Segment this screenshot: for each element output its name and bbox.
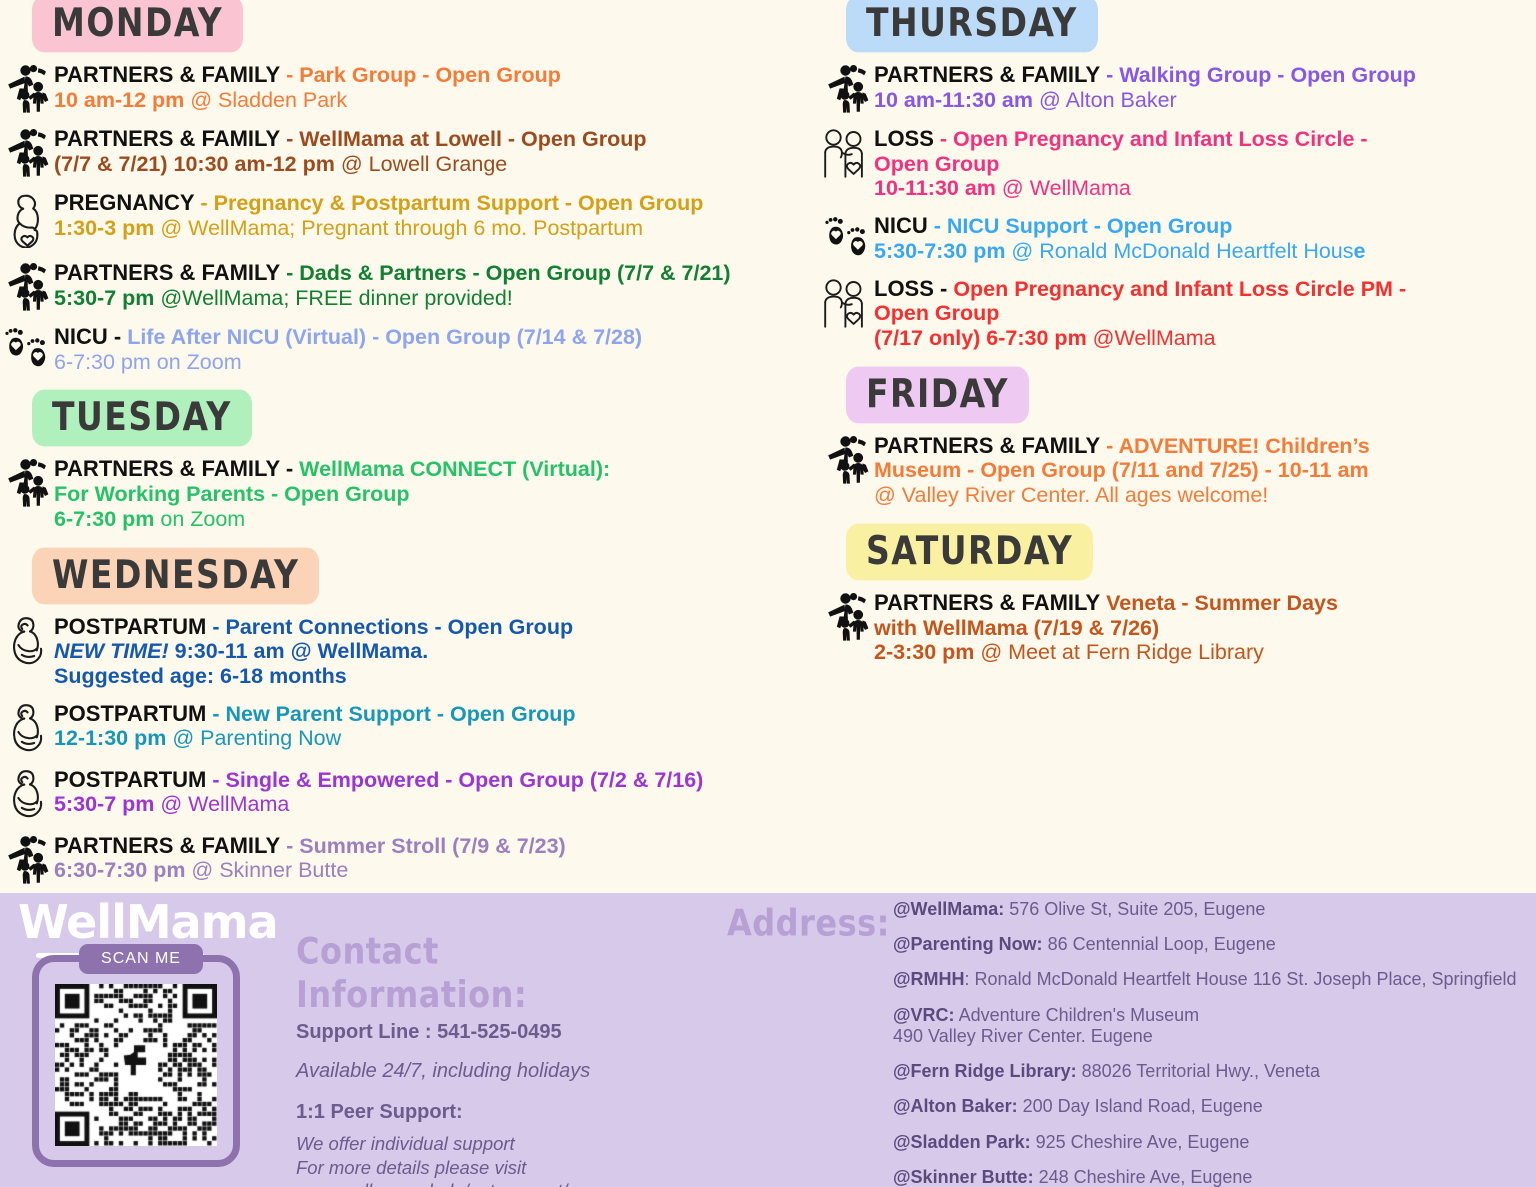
address-row: @Fern Ridge Library: 88026 Territorial H… [893,1061,1523,1082]
event-line: NEW TIME! 9:30-11 am @ WellMama. [54,639,820,664]
event-line: Museum - Open Group (7/11 and 7/25) - 10… [874,458,1536,483]
day-section-thursday: THURSDAY PARTNERS & FAMILY - Walking Gro… [820,0,1536,351]
event-text: POSTPARTUM - New Parent Support - Open G… [54,701,820,751]
event-text: PARTNERS & FAMILY - Park Group - Open Gr… [54,62,820,112]
address-label: @RMHH [893,969,965,989]
event-text: LOSS - Open Pregnancy and Infant Loss Ci… [874,276,1536,351]
event-tme: (7/7 & 7/21) 10:30 am-12 pm [54,152,341,176]
day-section-saturday: SATURDAY PARTNERS & FAMILY Veneta - Summ… [820,528,1536,665]
event-line: 10-11:30 am @ WellMama [874,176,1536,201]
event-loc: @ Parenting Now [172,726,341,750]
contact-information-title: Contact Information: [296,929,656,1016]
event-category: NICU - [54,324,121,349]
event-line: POSTPARTUM - Parent Connections - Open G… [54,614,820,640]
event-ttl: - Pregnancy & Postpartum Support - Open … [195,191,704,215]
peer-support-title: 1:1 Peer Support: [296,1101,656,1124]
address-row: @Sladden Park: 925 Cheshire Ave, Eugene [893,1132,1523,1153]
event-category: LOSS [874,126,934,151]
event-line: NICU - Life After NICU (Virtual) - Open … [54,324,820,350]
event-text: PARTNERS & FAMILY - Dads & Partners - Op… [54,260,820,310]
footprints-icon [0,324,54,372]
event-line: 10 am-12 pm @ Sladden Park [54,88,820,113]
event-loc: @ Alton Baker [1039,88,1177,112]
peer-support-line-1: For more details please visit [296,1156,656,1180]
event-row[interactable]: PARTNERS & FAMILY - ADVENTURE! Children’… [820,433,1536,508]
event-ttl: - Summer Stroll (7/9 & 7/23) [280,834,566,858]
address-label: @Fern Ridge Library: [893,1061,1077,1081]
postpartum-icon [0,767,54,821]
event-line: 12-1:30 pm @ Parenting Now [54,726,820,751]
calendar-area: MONDAY PARTNERS & FAMILY - Park Group - … [0,0,1536,893]
event-text: PARTNERS & FAMILY - WellMama at Lowell -… [54,126,820,176]
peer-support-line-0: We offer individual support [296,1132,656,1156]
family-icon [0,260,54,312]
event-category: PARTNERS & FAMILY [874,62,1100,87]
event-tme: 10 am-11:30 am [874,88,1039,112]
event-text: PARTNERS & FAMILY Veneta - Summer Dayswi… [874,590,1536,665]
event-loc: @WellMama; FREE dinner provided! [160,286,512,310]
event-loc: @WellMama [1093,326,1216,350]
event-line: PARTNERS & FAMILY - Walking Group - Open… [874,62,1536,88]
event-line: 5:30-7 pm @WellMama; FREE dinner provide… [54,286,820,311]
event-tme: 5:30-7:30 pm [874,239,1011,263]
event-row[interactable]: NICU - Life After NICU (Virtual) - Open … [0,324,820,374]
event-line: POSTPARTUM - Single & Empowered - Open G… [54,767,820,793]
event-text: PARTNERS & FAMILY - WellMama CONNECT (Vi… [54,456,820,531]
event-ttl: Open Group [874,152,999,176]
event-line: LOSS - Open Pregnancy and Infant Loss Ci… [874,126,1536,152]
event-ttl: with WellMama (7/19 & 7/26) [874,616,1159,640]
day-pill-monday: MONDAY [32,0,243,52]
peer-support-url[interactable]: www.wellmama.help/get-support/ [296,1179,656,1187]
event-line: Open Group [874,152,1536,177]
day-section-tuesday: TUESDAY PARTNERS & FAMILY - WellMama CON… [0,394,820,531]
event-ttl: - New Parent Support - Open Group [206,702,575,726]
event-line: PARTNERS & FAMILY - Summer Stroll (7/9 &… [54,833,820,859]
event-text: NICU - NICU Support - Open Group5:30-7:3… [874,213,1536,263]
address-value: 86 Centennial Loop, Eugene [1043,934,1276,954]
event-line: PARTNERS & FAMILY - Dads & Partners - Op… [54,260,820,286]
address-label: @Alton Baker: [893,1096,1018,1116]
event-ttl: For Working Parents - Open Group [54,482,410,506]
brand-name: WellMama [18,899,288,945]
family-icon [0,833,54,885]
address-value: 925 Cheshire Ave, Eugene [1031,1132,1250,1152]
event-line: (7/17 only) 6-7:30 pm @WellMama [874,326,1536,351]
address-row: @WellMama: 576 Olive St, Suite 205, Euge… [893,899,1523,920]
event-tme: 5:30-7 pm [54,792,160,816]
address-label: @Sladden Park: [893,1132,1031,1152]
family-icon [820,590,874,642]
event-line: POSTPARTUM - New Parent Support - Open G… [54,701,820,727]
event-row[interactable]: PARTNERS & FAMILY Veneta - Summer Dayswi… [820,590,1536,665]
calendar-column-left: MONDAY PARTNERS & FAMILY - Park Group - … [0,0,820,905]
event-line: @ Valley River Center. All ages welcome! [874,483,1536,508]
event-tme: 6:30-7:30 pm [54,858,191,882]
event-row[interactable]: PARTNERS & FAMILY - WellMama at Lowell -… [0,126,820,178]
event-row[interactable]: NICU - NICU Support - Open Group5:30-7:3… [820,213,1536,263]
support-line: Support Line : 541-525-0495 [296,1021,656,1044]
event-row[interactable]: POSTPARTUM - Parent Connections - Open G… [0,614,820,689]
address-label: @VRC: [893,1005,955,1025]
event-line: 5:30-7 pm @ WellMama [54,792,820,817]
day-pill-thursday: THURSDAY [846,0,1098,52]
event-row[interactable]: POSTPARTUM - Single & Empowered - Open G… [0,767,820,821]
address-row: @RMHH: Ronald McDonald Heartfelt House 1… [893,969,1523,990]
day-pill-wednesday: WEDNESDAY [32,547,319,604]
event-loc: 6-7:30 pm on Zoom [54,350,242,374]
event-tme: e [1354,239,1366,263]
event-loc: @ WellMama [1002,176,1131,200]
event-line: 5:30-7:30 pm @ Ronald McDonald Heartfelt… [874,239,1536,264]
event-category: PARTNERS & FAMILY [54,260,280,285]
day-section-friday: FRIDAY PARTNERS & FAMILY - ADVENTURE! Ch… [820,371,1536,508]
event-tme: (7/17 only) 6-7:30 pm [874,326,1093,350]
family-icon [0,62,54,114]
event-row[interactable]: PREGNANCY - Pregnancy & Postpartum Suppo… [0,190,820,248]
event-text: NICU - Life After NICU (Virtual) - Open … [54,324,820,374]
event-row[interactable]: PARTNERS & FAMILY - Summer Stroll (7/9 &… [0,833,820,885]
day-section-monday: MONDAY PARTNERS & FAMILY - Park Group - … [0,0,820,374]
event-line: PARTNERS & FAMILY - ADVENTURE! Children’… [874,433,1536,459]
event-loc: @ Meet at Fern Ridge Library [980,640,1264,664]
address-value: 88026 Territorial Hwy., Veneta [1077,1061,1320,1081]
event-category: PARTNERS & FAMILY [54,62,280,87]
event-loc: @ WellMama; Pregnant through 6 mo. Postp… [160,216,643,240]
address-value: 248 Cheshire Ave, Eugene [1034,1167,1253,1187]
scan-me-badge: SCAN ME [79,944,203,974]
event-line: with WellMama (7/19 & 7/26) [874,616,1536,641]
event-line: 2-3:30 pm @ Meet at Fern Ridge Library [874,640,1536,665]
event-ttl: Open Group [874,301,999,325]
event-loc: on Zoom [160,507,245,531]
event-category: PARTNERS & FAMILY [874,433,1100,458]
event-ttl: Museum - Open Group (7/11 and 7/25) - 10… [874,458,1369,482]
event-row[interactable]: LOSS - Open Pregnancy and Infant Loss Ci… [820,276,1536,351]
day-pill-tuesday: TUESDAY [32,390,252,447]
event-category: PREGNANCY [54,190,195,215]
event-category: PARTNERS & FAMILY [54,126,280,151]
event-loc: @ Sladden Park [190,88,347,112]
event-ttl: - Single & Empowered - Open Group (7/2 &… [206,768,703,792]
event-category: PARTNERS & FAMILY [54,833,280,858]
event-category: NICU [874,213,928,238]
event-loc: @ Valley River Center. All ages welcome! [874,483,1268,507]
event-ital: NEW TIME! [54,639,169,663]
event-category: POSTPARTUM [54,767,206,792]
address-title: Address: [727,901,890,945]
event-line: 6-7:30 pm on Zoom [54,507,820,532]
event-line: NICU - NICU Support - Open Group [874,213,1536,239]
event-ttl: - Open Pregnancy and Infant Loss Circle … [934,127,1368,151]
event-text: LOSS - Open Pregnancy and Infant Loss Ci… [874,126,1536,201]
event-text: POSTPARTUM - Single & Empowered - Open G… [54,767,820,817]
event-line: PARTNERS & FAMILY - Park Group - Open Gr… [54,62,820,88]
postpartum-icon [0,701,54,755]
event-text: PARTNERS & FAMILY - Walking Group - Open… [874,62,1536,112]
event-tme: 5:30-7 pm [54,286,160,310]
event-tme: 2-3:30 pm [874,640,980,664]
event-loc: @ Ronald McDonald Heartfelt Hous [1011,239,1353,263]
address-value: 576 Olive St, Suite 205, Eugene [1004,899,1265,919]
event-category: POSTPARTUM [54,614,206,639]
day-section-wednesday: WEDNESDAY POSTPARTUM - Parent Connection… [0,552,820,885]
event-loc: @ WellMama [160,792,289,816]
event-line: For Working Parents - Open Group [54,482,820,507]
event-tme: 9:30-11 am @ WellMama. [169,639,429,663]
event-row[interactable]: PARTNERS & FAMILY - Dads & Partners - Op… [0,260,820,312]
event-line: PREGNANCY - Pregnancy & Postpartum Suppo… [54,190,820,216]
address-list: @WellMama: 576 Olive St, Suite 205, Euge… [893,899,1523,1187]
address-label: @Parenting Now: [893,934,1043,954]
event-ttl: Open Pregnancy and Infant Loss Circle PM… [947,277,1406,301]
event-line: 10 am-11:30 am @ Alton Baker [874,88,1536,113]
event-ttl: - Parent Connections - Open Group [206,615,573,639]
address-label: @Skinner Butte: [893,1167,1034,1187]
event-ttl: - Walking Group - Open Group [1100,63,1416,87]
event-ttl: - Dads & Partners - Open Group (7/7 & 7/… [280,261,730,285]
address-value: 200 Day Island Road, Eugene [1018,1096,1263,1116]
event-tme: 6-7:30 pm [54,507,160,531]
address-row: @Alton Baker: 200 Day Island Road, Eugen… [893,1096,1523,1117]
event-ttl: - NICU Support - Open Group [928,214,1233,238]
event-tme: 12-1:30 pm [54,726,172,750]
event-line: Suggested age: 6-18 months [54,664,820,689]
event-loc: @ Lowell Grange [341,152,507,176]
contact-information-block: Contact Information: Support Line : 541-… [296,929,656,1187]
family-icon [0,456,54,508]
event-tme: 10 am-12 pm [54,88,190,112]
event-text: PREGNANCY - Pregnancy & Postpartum Suppo… [54,190,820,240]
event-category: PARTNERS & FAMILY [874,590,1100,615]
event-line: 1:30-3 pm @ WellMama; Pregnant through 6… [54,216,820,241]
event-line: LOSS - Open Pregnancy and Infant Loss Ci… [874,276,1536,302]
family-icon [820,62,874,114]
qr-code-image [55,984,217,1146]
qr-code-card[interactable]: SCAN ME [32,955,240,1167]
event-category: LOSS - [874,276,947,301]
event-tme: 10-11:30 am [874,176,1002,200]
pregnancy-icon [0,190,54,248]
event-row[interactable]: PARTNERS & FAMILY - WellMama CONNECT (Vi… [0,456,820,531]
event-ttl: - Park Group - Open Group [280,63,561,87]
event-line: Open Group [874,301,1536,326]
event-line: 6-7:30 pm on Zoom [54,350,820,375]
calendar-column-right: THURSDAY PARTNERS & FAMILY - Walking Gro… [820,0,1536,685]
event-ttl: Veneta - Summer Days [1100,591,1338,615]
event-line: PARTNERS & FAMILY - WellMama CONNECT (Vi… [54,456,820,482]
availability-note: Available 24/7, including holidays [296,1060,656,1083]
event-ttl: Life After NICU (Virtual) - Open Group (… [121,325,642,349]
family-icon [0,126,54,178]
event-line: PARTNERS & FAMILY - WellMama at Lowell -… [54,126,820,152]
event-text: PARTNERS & FAMILY - ADVENTURE! Children’… [874,433,1536,508]
event-tme: 1:30-3 pm [54,216,160,240]
event-row[interactable]: POSTPARTUM - New Parent Support - Open G… [0,701,820,755]
event-ttl: - WellMama at Lowell - Open Group [280,127,646,151]
event-ttl: WellMama CONNECT (Virtual): [293,457,610,481]
address-label: @WellMama: [893,899,1004,919]
footprints-icon [820,213,874,261]
address-row: @VRC: Adventure Children's Museum 490 Va… [893,1005,1523,1047]
event-line: (7/7 & 7/21) 10:30 am-12 pm @ Lowell Gra… [54,152,820,177]
event-row[interactable]: PARTNERS & FAMILY - Walking Group - Open… [820,62,1536,114]
loss-icon [820,276,874,328]
event-category: PARTNERS & FAMILY - [54,456,293,481]
day-pill-saturday: SATURDAY [846,524,1093,581]
address-row: @Skinner Butte: 248 Cheshire Ave, Eugene [893,1167,1523,1187]
event-row[interactable]: LOSS - Open Pregnancy and Infant Loss Ci… [820,126,1536,201]
family-icon [820,433,874,485]
event-ttl: - ADVENTURE! Children’s [1100,434,1370,458]
loss-icon [820,126,874,178]
day-pill-friday: FRIDAY [846,366,1029,423]
event-category: POSTPARTUM [54,701,206,726]
footer: WellMama SCAN ME Contact Information: Su… [0,893,1536,1187]
event-loc: @ Skinner Butte [191,858,348,882]
event-text: POSTPARTUM - Parent Connections - Open G… [54,614,820,689]
address-row: @Parenting Now: 86 Centennial Loop, Euge… [893,934,1523,955]
event-line: PARTNERS & FAMILY Veneta - Summer Days [874,590,1536,616]
address-value: : Ronald McDonald Heartfelt House 116 St… [965,969,1517,989]
event-row[interactable]: PARTNERS & FAMILY - Park Group - Open Gr… [0,62,820,114]
event-tme: Suggested age: 6-18 months [54,664,347,688]
event-line: 6:30-7:30 pm @ Skinner Butte [54,858,820,883]
postpartum-icon [0,614,54,668]
event-text: PARTNERS & FAMILY - Summer Stroll (7/9 &… [54,833,820,883]
